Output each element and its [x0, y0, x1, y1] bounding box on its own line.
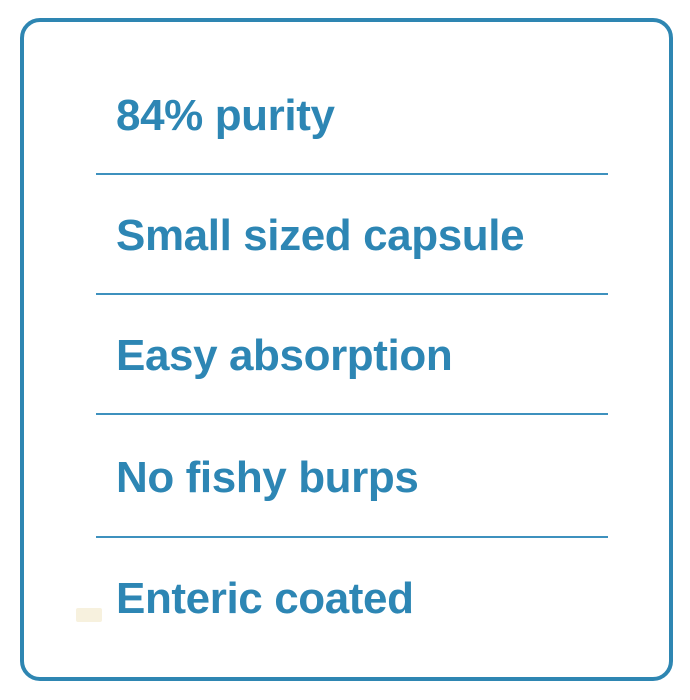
- list-divider: [96, 293, 608, 295]
- feature-card: 84% purity Small sized capsule Easy abso…: [20, 18, 673, 681]
- list-item: Enteric coated: [96, 539, 608, 659]
- list-item: No fishy burps: [96, 418, 608, 538]
- feature-label-capsule-size: Small sized capsule: [116, 213, 524, 259]
- feature-label-purity: 84% purity: [116, 93, 335, 139]
- feature-label-no-fishy-burps: No fishy burps: [116, 455, 418, 501]
- feature-list: 84% purity Small sized capsule Easy abso…: [24, 22, 669, 677]
- print-artifact: [76, 608, 102, 622]
- list-divider: [96, 173, 608, 175]
- list-divider: [96, 536, 608, 538]
- feature-label-enteric-coated: Enteric coated: [116, 576, 414, 622]
- feature-label-absorption: Easy absorption: [116, 333, 452, 379]
- list-item: 84% purity: [96, 56, 608, 176]
- list-divider: [96, 413, 608, 415]
- list-item: Easy absorption: [96, 296, 608, 416]
- list-item: Small sized capsule: [96, 176, 608, 296]
- product-benefits-graphic: 84% purity Small sized capsule Easy abso…: [0, 0, 690, 700]
